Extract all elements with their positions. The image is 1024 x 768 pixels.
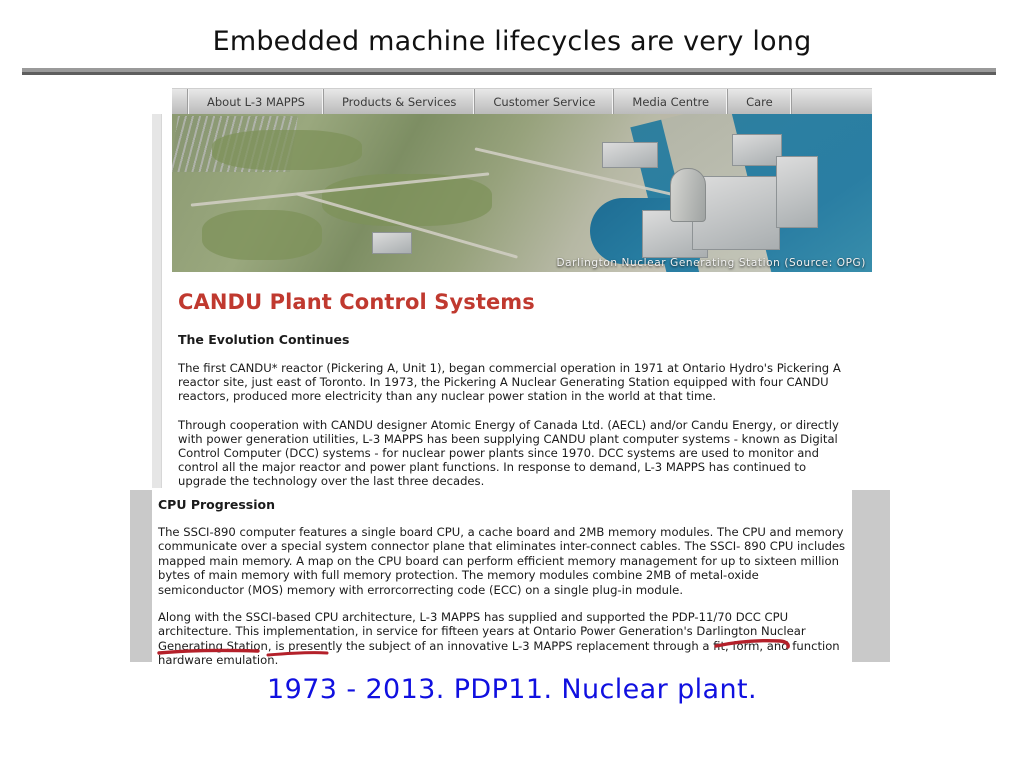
- divider-shadow: [22, 72, 996, 75]
- capture-left-gutter: [130, 490, 152, 662]
- photo-building-4: [776, 156, 818, 228]
- paragraph-evolution-1: The first CANDU* reactor (Pickering A, U…: [178, 361, 854, 404]
- nav-item-about[interactable]: About L-3 MAPPS: [189, 89, 324, 115]
- photo-building-3: [732, 134, 782, 166]
- article-heading: CANDU Plant Control Systems: [178, 290, 872, 314]
- photo-field-3: [202, 210, 322, 260]
- nav-item-media-centre[interactable]: Media Centre: [614, 89, 728, 115]
- section-heading-cpu-progression: CPU Progression: [158, 497, 858, 512]
- section-heading-evolution: The Evolution Continues: [178, 332, 872, 347]
- title-divider: [22, 68, 996, 75]
- hero-photo: Darlington Nuclear Generating Station (S…: [172, 114, 872, 272]
- slide-bottom-note: 1973 - 2013. PDP11. Nuclear plant.: [0, 674, 1024, 705]
- paragraph-evolution-2: Through cooperation with CANDU designer …: [178, 418, 854, 489]
- page-title: Embedded machine lifecycles are very lon…: [0, 26, 1024, 57]
- site-navbar[interactable]: About L-3 MAPPS Products & Services Cust…: [172, 88, 872, 115]
- nav-item-customer-service[interactable]: Customer Service: [475, 89, 614, 115]
- photo-field-1: [212, 130, 362, 170]
- photo-building-6: [372, 232, 412, 254]
- webpage-screenshot-bottom: CPU Progression The SSCI-890 computer fe…: [130, 486, 890, 668]
- article-bottom: CPU Progression The SSCI-890 computer fe…: [158, 486, 858, 668]
- article-top: CANDU Plant Control Systems The Evolutio…: [172, 276, 872, 489]
- paragraph-cpu-1: The SSCI-890 computer features a single …: [158, 525, 846, 597]
- hero-photo-caption: Darlington Nuclear Generating Station (S…: [556, 257, 866, 269]
- page-left-gutter: [152, 114, 162, 488]
- nav-item-careers[interactable]: Care: [728, 89, 792, 115]
- paragraph-cpu-2: Along with the SSCI-based CPU architectu…: [158, 610, 846, 668]
- slide-root: Embedded machine lifecycles are very lon…: [0, 0, 1024, 768]
- photo-building-5: [602, 142, 658, 168]
- navbar-left-spacer: [172, 89, 189, 115]
- nav-item-products-services[interactable]: Products & Services: [324, 89, 475, 115]
- photo-reactor-dome: [670, 168, 706, 222]
